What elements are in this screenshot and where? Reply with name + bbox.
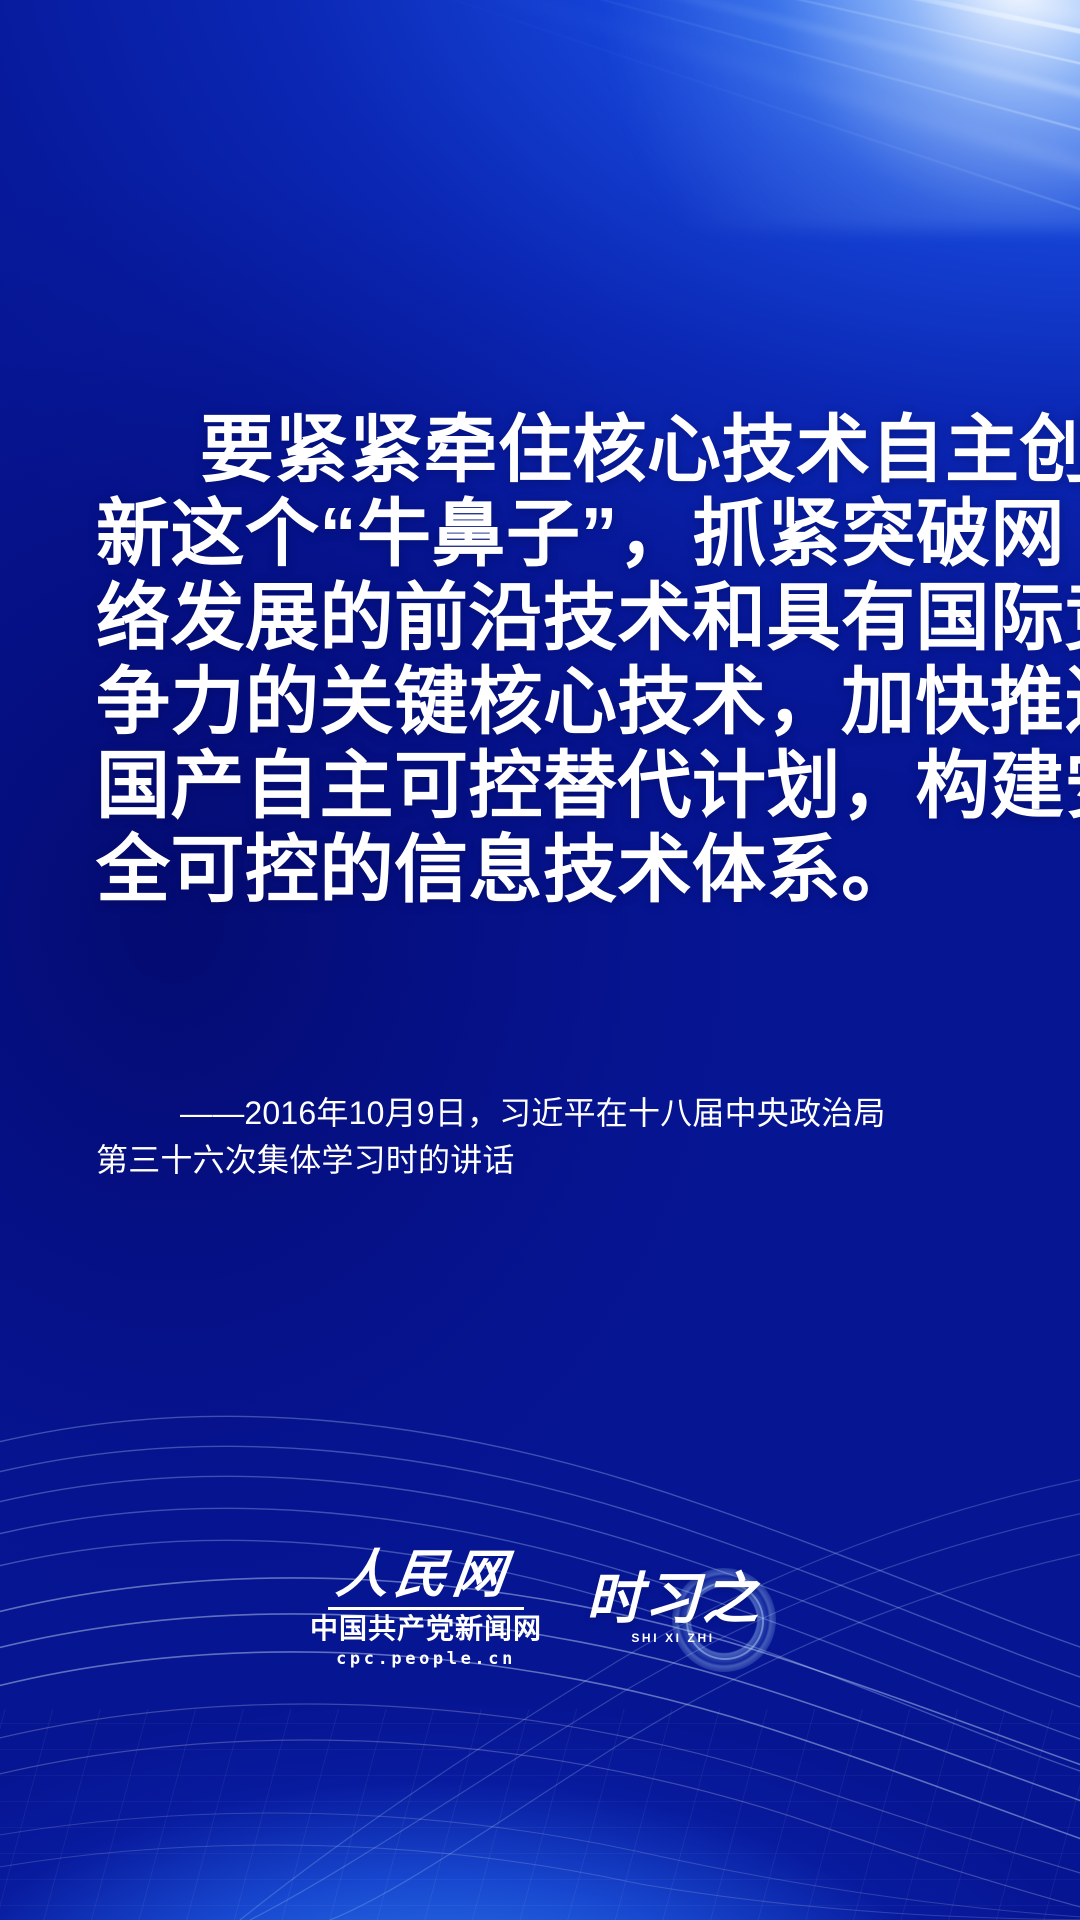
people-logo-subtitle: 中国共产党新闻网 — [310, 1614, 542, 1645]
quote-line: 新这个“牛鼻子”，抓紧突破网 — [96, 492, 996, 576]
quote-line: 国产自主可控替代计划，构建安 — [96, 744, 996, 828]
quote-line: 要紧紧牵住核心技术自主创 — [96, 408, 996, 492]
poster-content: 要紧紧牵住核心技术自主创 新这个“牛鼻子”，抓紧突破网 络发展的前沿技术和具有国… — [0, 0, 1080, 1920]
attribution-line-2: 第三十六次集体学习时的讲话 — [96, 1137, 1020, 1184]
quote-line: 全可控的信息技术体系。 — [96, 828, 996, 912]
logo-divider — [328, 1607, 524, 1610]
attribution-line-1: ——2016年10月9日，习近平在十八届中央政治局 — [96, 1090, 1020, 1137]
quote-line: 争力的关键核心技术，加快推进 — [96, 660, 996, 744]
logo-shixizhi: 时习之 SHI XI ZHI — [576, 1566, 770, 1651]
shixizhi-title: 时习之 — [586, 1570, 760, 1629]
quote-line: 络发展的前沿技术和具有国际竞 — [96, 576, 996, 660]
logo-row: 人民网 中国共产党新闻网 cpc.people.cn 时习之 SHI XI ZH… — [0, 1548, 1080, 1669]
quote-block: 要紧紧牵住核心技术自主创 新这个“牛鼻子”，抓紧突破网 络发展的前沿技术和具有国… — [96, 408, 996, 912]
shixizhi-pinyin: SHI XI ZHI — [631, 1631, 714, 1645]
people-logo-url: cpc.people.cn — [336, 1649, 516, 1669]
people-logo-script: 人民网 — [334, 1548, 519, 1602]
quote-attribution: ——2016年10月9日，习近平在十八届中央政治局 第三十六次集体学习时的讲话 — [96, 1090, 1020, 1184]
poster-canvas: 要紧紧牵住核心技术自主创 新这个“牛鼻子”，抓紧突破网 络发展的前沿技术和具有国… — [0, 0, 1080, 1920]
logo-people-cn: 人民网 中国共产党新闻网 cpc.people.cn — [310, 1548, 542, 1669]
